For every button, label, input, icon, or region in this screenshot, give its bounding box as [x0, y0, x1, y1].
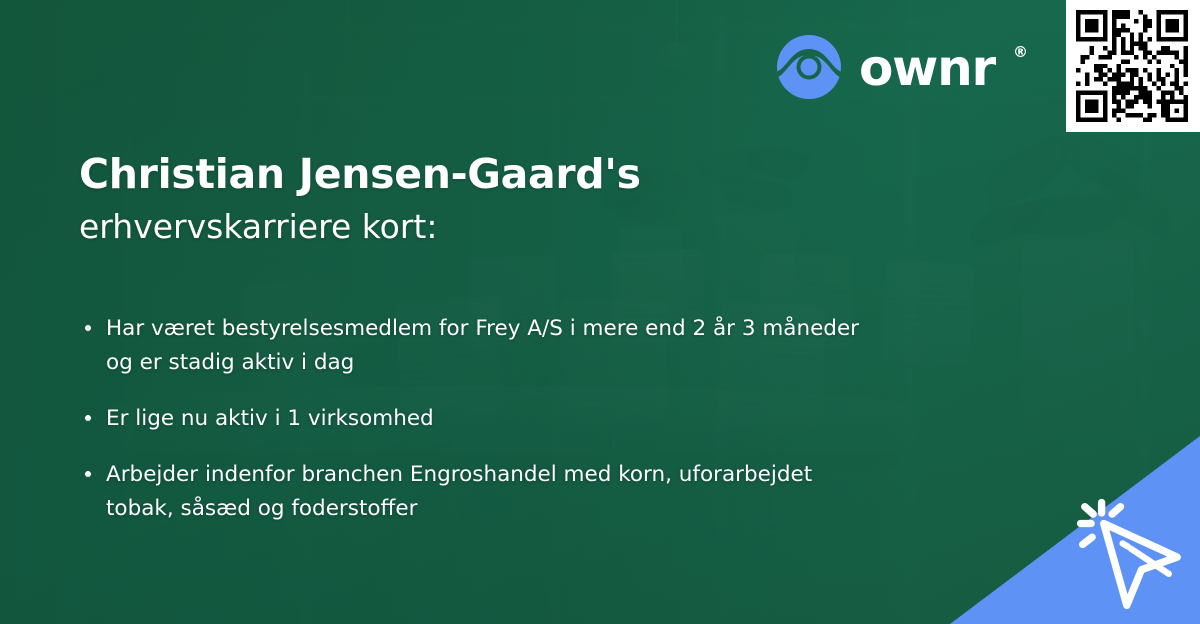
ownr-logo[interactable]: ownr ® — [775, 33, 1028, 101]
registered-trademark-symbol: ® — [1013, 45, 1028, 60]
ownr-wordmark: ownr — [859, 43, 995, 93]
list-item: Er lige nu aktiv i 1 virksomhed — [80, 402, 870, 436]
career-card: ownr ® Christian Jensen-Gaard's erhvervs… — [0, 0, 1200, 624]
title-line-subtitle: erhvervskarriere kort: — [79, 207, 979, 247]
page-title: Christian Jensen-Gaard's erhvervskarrier… — [79, 152, 979, 247]
title-line-name: Christian Jensen-Gaard's — [79, 152, 979, 198]
qr-code-image — [1076, 10, 1188, 122]
list-item-text: Er lige nu aktiv i 1 virksomhed — [106, 406, 434, 431]
bullet-dot-icon — [85, 471, 91, 477]
blue-corner-triangle — [950, 436, 1200, 624]
bullet-dot-icon — [85, 415, 91, 421]
list-item: Arbejder indenfor branchen Engroshandel … — [80, 458, 870, 526]
career-summary-list: Har været bestyrelsesmedlem for Frey A/S… — [80, 312, 980, 526]
bullet-dot-icon — [85, 325, 91, 331]
list-item-text: Arbejder indenfor branchen Engroshandel … — [106, 462, 812, 521]
ownr-circle-logo-icon — [775, 33, 843, 101]
qr-code-panel[interactable] — [1066, 0, 1200, 132]
list-item-text: Har været bestyrelsesmedlem for Frey A/S… — [106, 316, 859, 375]
corner-decoration — [950, 436, 1200, 624]
list-item: Har været bestyrelsesmedlem for Frey A/S… — [80, 312, 870, 380]
click-cursor-icon — [1068, 492, 1194, 618]
